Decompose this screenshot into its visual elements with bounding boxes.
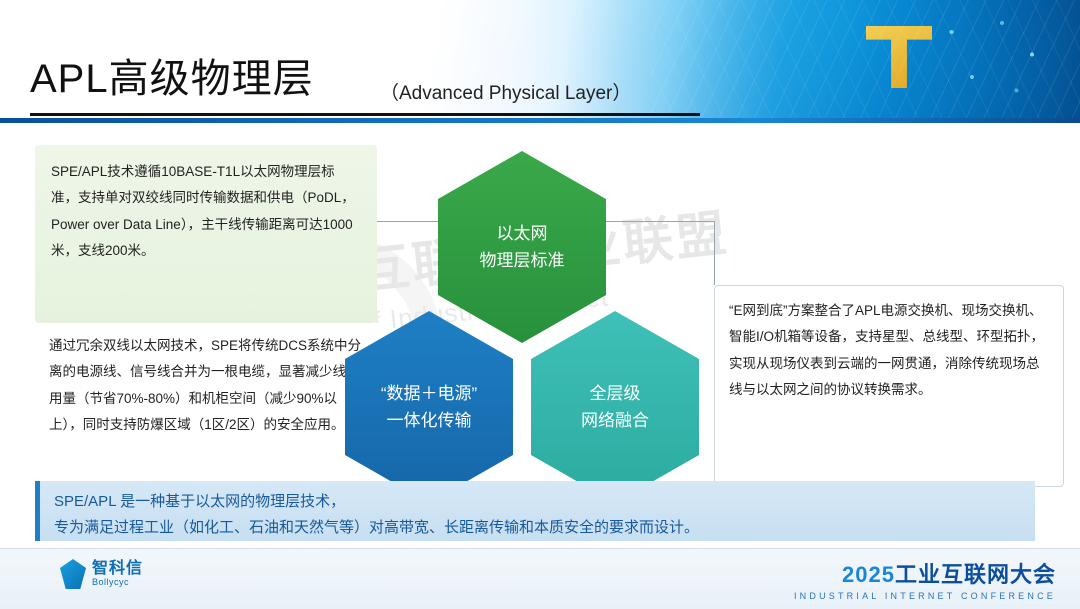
- decorative-network-dots-icon: [930, 14, 1050, 104]
- page-title: APL高级物理层: [30, 46, 314, 104]
- connector-right-vert: [714, 221, 715, 285]
- hexagon-left-line1: “数据＋电源”: [381, 380, 477, 407]
- hexagon-top-line1: 以太网: [480, 220, 565, 247]
- summary-line-2: 专为满足过程工业（如化工、石油和天然气等）对高带宽、长距离传输和本质安全的要求而…: [54, 515, 1021, 541]
- title-underline: [30, 113, 700, 116]
- card-top-left: SPE/APL技术遵循10BASE-T1L以太网物理层标准，支持单对双绞线同时传…: [35, 145, 377, 323]
- slide-footer: 智科信 Bollycyc 2025工业互联网大会 INDUSTRIAL INTE…: [0, 548, 1080, 609]
- conference-name-zh: 工业互联网大会: [895, 562, 1056, 587]
- tech-logo-icon: [866, 26, 932, 88]
- hexagon-left-line2: 一体化传输: [381, 407, 477, 434]
- conference-name-en: INDUSTRIAL INTERNET CONFERENCE: [794, 591, 1056, 601]
- company-logo-en: Bollycyc: [92, 578, 143, 587]
- company-logo: 智科信 Bollycyc: [60, 559, 143, 589]
- hexagon-right-line2: 网络融合: [581, 407, 649, 434]
- hexagon-top-line2: 物理层标准: [480, 247, 565, 274]
- conference-logo: 2025工业互联网大会 INDUSTRIAL INTERNET CONFEREN…: [794, 557, 1056, 601]
- hexagon-right-line1: 全层级: [581, 380, 649, 407]
- slide-body: 工业互联网产业联盟 Alliance of Industrial Interne…: [0, 123, 1080, 548]
- summary-callout: SPE/APL 是一种基于以太网的物理层技术， 专为满足过程工业（如化工、石油和…: [35, 481, 1035, 541]
- company-logo-zh: 智科信: [92, 561, 143, 578]
- page-subtitle: （Advanced Physical Layer）: [380, 78, 631, 105]
- card-right: “E网到底”方案整合了APL电源交换机、现场交换机、智能I/O机箱等设备，支持星…: [714, 285, 1064, 487]
- summary-line-1: SPE/APL 是一种基于以太网的物理层技术，: [54, 489, 1021, 515]
- company-logo-icon: [60, 559, 86, 589]
- conference-year: 2025: [842, 562, 895, 587]
- hexagon-ethernet-phy-standard: 以太网 物理层标准: [438, 151, 606, 343]
- connector-top-right: [606, 221, 714, 222]
- hexagon-full-layer-network-convergence: 全层级 网络融合: [531, 311, 699, 503]
- card-bottom-left: 通过冗余双线以太网技术，SPE将传统DCS系统中分离的电源线、信号线合并为一根电…: [35, 323, 383, 483]
- slide: APL高级物理层 （Advanced Physical Layer） 工业互联网…: [0, 0, 1080, 608]
